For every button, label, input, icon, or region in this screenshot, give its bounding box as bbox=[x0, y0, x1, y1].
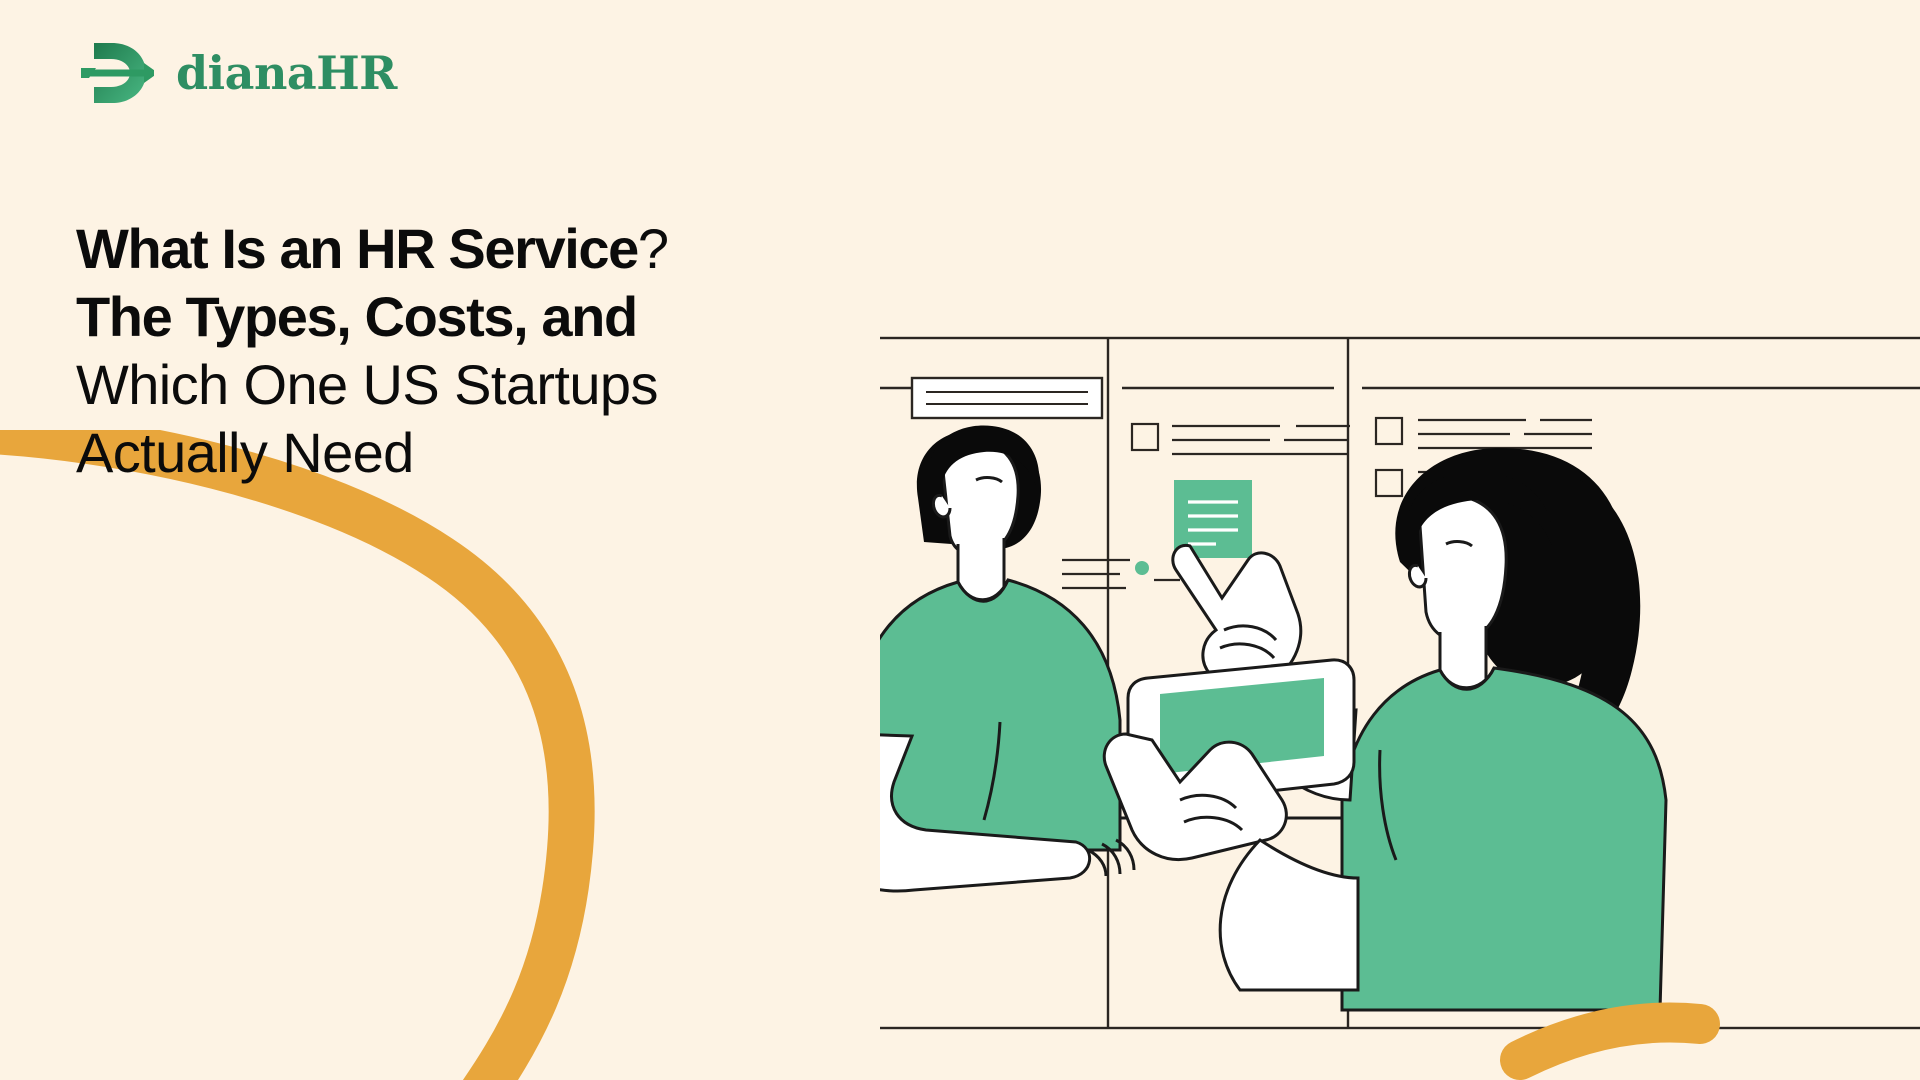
headline-line-4: Actually Need bbox=[76, 419, 976, 487]
brand-logo[interactable]: dianaHR bbox=[78, 35, 397, 111]
diana-arrow-d-icon bbox=[78, 35, 154, 111]
board-checkbox-row-2 bbox=[1376, 418, 1592, 448]
headline-line-2: The Types, Costs, and bbox=[76, 283, 976, 351]
board-checkbox-row-1 bbox=[1132, 424, 1350, 454]
headline-question-mark: ? bbox=[638, 217, 668, 280]
person-left bbox=[880, 425, 1134, 891]
page-title: What Is an HR Service? The Types, Costs,… bbox=[76, 215, 976, 487]
brand-wordmark: dianaHR bbox=[176, 50, 397, 96]
hero-illustration bbox=[880, 330, 1920, 1080]
poster-canvas: dianaHR What Is an HR Service? The Types… bbox=[0, 0, 1920, 1080]
headline-line-3: Which One US Startups bbox=[76, 351, 976, 419]
headline-line-1: What Is an HR Service? bbox=[76, 215, 976, 283]
board-dot-row bbox=[1062, 560, 1180, 588]
board-text-card bbox=[912, 378, 1102, 418]
orange-ribbon-decoration bbox=[0, 430, 700, 1080]
